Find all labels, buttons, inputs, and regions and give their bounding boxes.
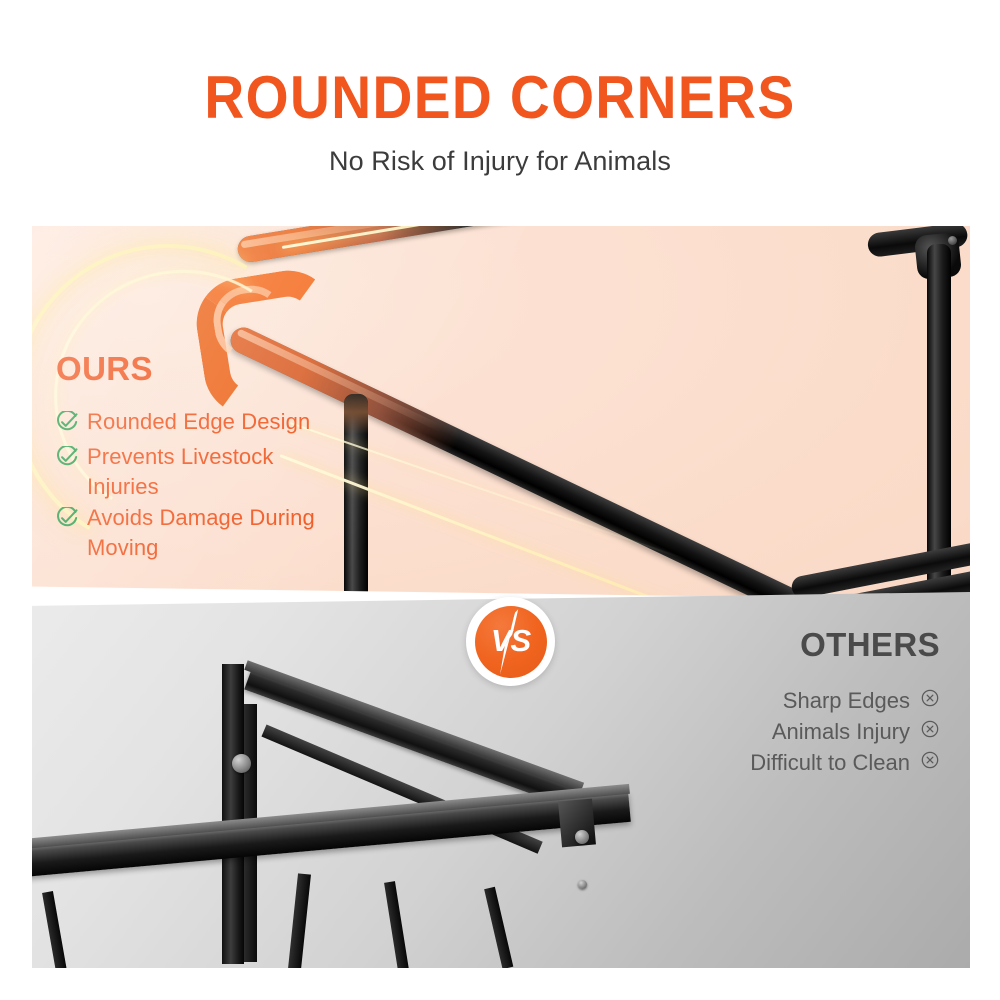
- frame-rivet: [948, 236, 957, 245]
- versus-label: VS: [475, 606, 547, 678]
- others-list-item-label: Difficult to Clean: [750, 747, 910, 778]
- steel-bolt: [578, 880, 587, 889]
- ours-list-item: Avoids Damage During Moving: [56, 503, 386, 562]
- ours-feature-list: Rounded Edge Design Prevents Livestock I…: [56, 407, 386, 562]
- steel-bolt: [575, 830, 589, 844]
- ours-list-item-label: Avoids Damage During Moving: [87, 503, 349, 562]
- steel-leg: [484, 887, 513, 968]
- ours-list-item: Prevents Livestock Injuries: [56, 442, 386, 501]
- steel-vertical-post: [222, 664, 244, 964]
- frame-top-rail-highlight: [236, 226, 467, 264]
- others-drawback-list: Sharp Edges Animals Injury: [610, 685, 940, 779]
- check-circle-icon: [56, 507, 78, 536]
- others-heading: OTHERS: [610, 628, 940, 661]
- others-list-item: Sharp Edges: [610, 685, 940, 716]
- versus-badge: VS: [466, 597, 555, 686]
- page-title: ROUNDED CORNERS: [40, 68, 960, 128]
- ours-heading: OURS: [56, 352, 386, 385]
- page-subtitle: No Risk of Injury for Animals: [0, 148, 1000, 175]
- check-circle-icon: [56, 411, 78, 440]
- others-text-block: OTHERS Sharp Edges Animals Injury: [610, 628, 940, 779]
- ours-list-item-label: Rounded Edge Design: [87, 407, 310, 436]
- steel-top-rail-face: [244, 660, 584, 792]
- ours-panel: OURS Rounded Edge Design: [32, 226, 970, 600]
- check-circle-icon: [56, 446, 78, 475]
- others-list-item-label: Sharp Edges: [783, 685, 910, 716]
- ours-text-block: OURS Rounded Edge Design: [56, 352, 386, 564]
- ours-list-item-label: Prevents Livestock Injuries: [87, 442, 349, 501]
- steel-bolt: [232, 754, 251, 773]
- ours-list-item: Rounded Edge Design: [56, 407, 386, 440]
- page-header: ROUNDED CORNERS No Risk of Injury for An…: [0, 0, 1000, 226]
- circle-x-icon: [920, 716, 940, 747]
- others-list-item-label: Animals Injury: [772, 716, 910, 747]
- circle-x-icon: [920, 685, 940, 716]
- steel-leg: [42, 891, 66, 968]
- steel-leg: [288, 873, 311, 968]
- steel-leg: [384, 881, 409, 968]
- others-list-item: Difficult to Clean: [610, 747, 940, 778]
- others-list-item: Animals Injury: [610, 716, 940, 747]
- circle-x-icon: [920, 747, 940, 778]
- versus-badge-circle: VS: [475, 606, 547, 678]
